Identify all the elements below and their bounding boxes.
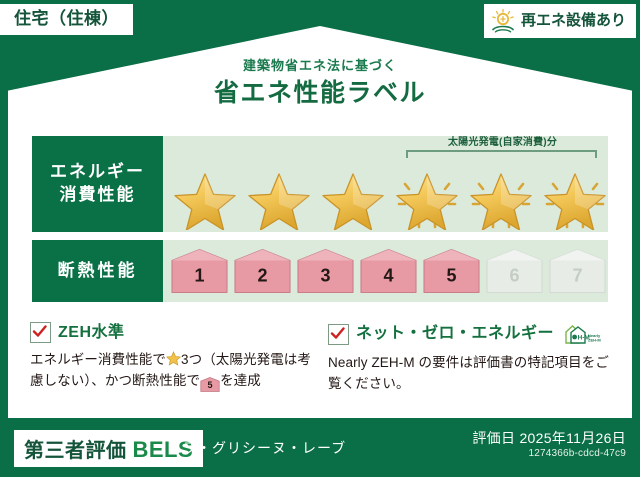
- zeh-checkbox[interactable]: [30, 322, 51, 343]
- insulation-badge-value: 4: [383, 267, 393, 295]
- nze-note-body: Nearly ZEH-M の要件は評価書の特記項目をご覧ください。: [328, 353, 610, 394]
- note-nze-header: ネット・ゼロ・エネルギー H-M Nearly ZEH-M: [328, 322, 610, 346]
- inline-badge-value: 5: [200, 377, 220, 393]
- note-zeh-header: ZEH水準: [30, 322, 312, 343]
- energy-label-line1: エネルギー: [50, 161, 145, 184]
- zeh-note-text-1: エネルギー消費性能で: [30, 352, 166, 367]
- zeh-note-body: エネルギー消費性能で3つ（太陽光発電は考慮しない）、かつ断熱性能で5を達成: [30, 350, 312, 392]
- note-net-zero-energy: ネット・ゼロ・エネルギー H-M Nearly ZEH-M Nearly ZEH…: [328, 322, 610, 394]
- building-name: ラ・グリシーヌ・レーブ: [182, 438, 346, 458]
- nze-note-title: ネット・ゼロ・エネルギー: [356, 325, 554, 343]
- solar-self-consumption-caption: 太陽光発電(自家消費)分: [406, 137, 599, 148]
- footer-bar: 第三者評価 BELS ラ・グリシーヌ・レーブ 評価日 2025年11月26日 1…: [0, 418, 640, 477]
- insulation-badge-value: 5: [446, 267, 456, 295]
- bels-chip: 第三者評価 BELS: [14, 430, 203, 467]
- insulation-badges-row: 1 2 3 4 5: [169, 248, 608, 295]
- energy-star-2: [243, 168, 315, 230]
- energy-label-card: 住宅（住棟） 再エネ設備あり 建築物省エネ法に基づく 省エネ性能ラベル エネルギ…: [0, 0, 640, 477]
- insulation-performance-body: 1 2 3 4 5: [163, 240, 608, 302]
- red-check-icon: [330, 326, 345, 341]
- note-zeh-standard: ZEH水準 エネルギー消費性能で3つ（太陽光発電は考慮しない）、かつ断熱性能で5…: [30, 322, 312, 394]
- renewable-equipment-label: 再エネ設備あり: [521, 13, 626, 30]
- title-main: 省エネ性能ラベル: [0, 77, 640, 110]
- page-title: 建築物省エネ法に基づく 省エネ性能ラベル: [0, 58, 640, 109]
- red-check-icon: [32, 324, 47, 339]
- bels-jp-label: 第三者評価: [24, 434, 127, 463]
- renewable-equipment-tag: 再エネ設備あり: [484, 4, 636, 38]
- energy-performance-label: エネルギー 消費性能: [32, 136, 163, 232]
- energy-label-line2: 消費性能: [60, 184, 136, 207]
- svg-text:ZEH-M: ZEH-M: [588, 338, 601, 343]
- insulation-badge-4: 4: [358, 248, 419, 295]
- insulation-performance-panel: 断熱性能 1 2 3 4: [32, 240, 608, 302]
- energy-star-6: [539, 168, 611, 230]
- energy-star-3: [317, 168, 389, 230]
- zeh-note-title: ZEH水準: [58, 324, 125, 342]
- insulation-badge-6: 6: [484, 248, 545, 295]
- insulation-badge-7: 7: [547, 248, 608, 295]
- insulation-badge-5: 5: [421, 248, 482, 295]
- title-subtitle: 建築物省エネ法に基づく: [0, 58, 640, 74]
- nearly-zeh-m-logo: H-M Nearly ZEH-M: [563, 322, 603, 346]
- evaluation-date: 評価日 2025年11月26日: [472, 428, 626, 448]
- energy-star-4: [391, 168, 463, 230]
- zeh-note-text-3: を達成: [220, 373, 261, 388]
- insulation-badge-3: 3: [295, 248, 356, 295]
- insulation-label-text: 断熱性能: [58, 260, 138, 283]
- insulation-performance-label: 断熱性能: [32, 240, 163, 302]
- house-type-tag: 住宅（住棟）: [0, 4, 133, 35]
- energy-performance-body: 太陽光発電(自家消費)分: [163, 136, 608, 232]
- inline-star-icon: [166, 351, 181, 366]
- energy-star-5: [465, 168, 537, 230]
- insulation-badge-2: 2: [232, 248, 293, 295]
- insulation-badge-value: 2: [257, 267, 267, 295]
- insulation-badge-value: 7: [572, 267, 582, 295]
- nze-checkbox[interactable]: [328, 324, 349, 345]
- evaluation-id: 1274366b-cdcd-47c9: [528, 448, 626, 459]
- energy-performance-panel: エネルギー 消費性能 太陽光発電(自家消費)分: [32, 136, 608, 232]
- insulation-badge-value: 6: [509, 267, 519, 295]
- insulation-badge-value: 1: [194, 267, 204, 295]
- sun-renewable-icon: [490, 8, 516, 34]
- inline-insulation-badge: 5: [200, 377, 220, 392]
- energy-star-1: [169, 168, 241, 230]
- insulation-badge-value: 3: [320, 267, 330, 295]
- insulation-badge-1: 1: [169, 248, 230, 295]
- notes-section: ZEH水準 エネルギー消費性能で3つ（太陽光発電は考慮しない）、かつ断熱性能で5…: [30, 322, 610, 394]
- energy-stars-row: [163, 168, 608, 230]
- solar-range-bracket: [406, 150, 597, 158]
